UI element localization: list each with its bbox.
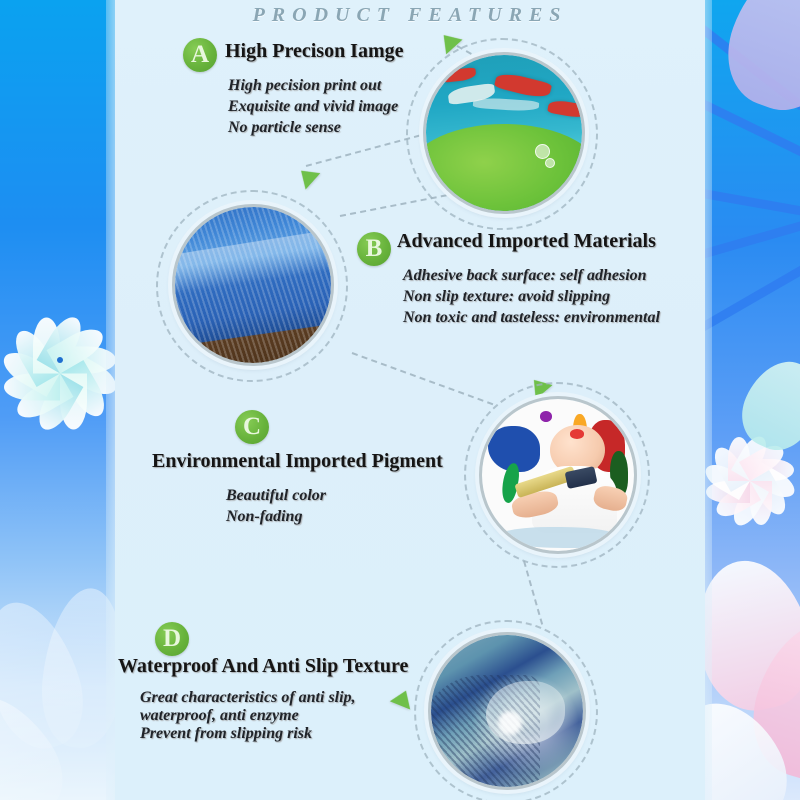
feature-badge-d: D (155, 622, 189, 656)
feature-badge-b: B (357, 232, 391, 266)
feature-image-b (172, 204, 334, 366)
feature-line-a-2: Exquisite and vivid image (228, 97, 398, 118)
diagonal-stripe (704, 185, 800, 223)
product-features-infographic: PRODUCT FEATURES (0, 0, 800, 800)
feature-image-a (423, 52, 585, 214)
feature-image-d (428, 632, 586, 790)
feature-line-b-1: Adhesive back surface: self adhesion (403, 266, 647, 287)
left-decorative-band (0, 0, 118, 800)
feature-heading-a: High Precison Iamge (225, 40, 404, 63)
right-decorative-band (704, 0, 800, 800)
diagonal-stripe (704, 214, 800, 264)
feature-image-c (479, 396, 637, 554)
flower-center (57, 357, 63, 363)
feature-line-b-2: Non slip texture: avoid slipping (403, 287, 610, 308)
feature-badge-c: C (235, 410, 269, 444)
feature-heading-b: Advanced Imported Materials (397, 230, 656, 253)
feature-badge-a: A (183, 38, 217, 72)
feature-line-a-1: High pecision print out (228, 76, 381, 97)
feature-line-b-3: Non toxic and tasteless: environmental (403, 308, 660, 329)
feature-line-c-2: Non-fading (226, 507, 302, 528)
diagonal-stripe (704, 261, 800, 339)
feature-line-a-3: No particle sense (228, 118, 341, 139)
feature-line-d-3: Prevent from slipping risk (140, 724, 312, 745)
feature-heading-d: Waterproof And Anti Slip Texture (118, 655, 408, 678)
feature-heading-c: Environmental Imported Pigment (152, 450, 443, 473)
page-title: PRODUCT FEATURES (115, 4, 705, 27)
feature-line-c-1: Beautiful color (226, 486, 326, 507)
